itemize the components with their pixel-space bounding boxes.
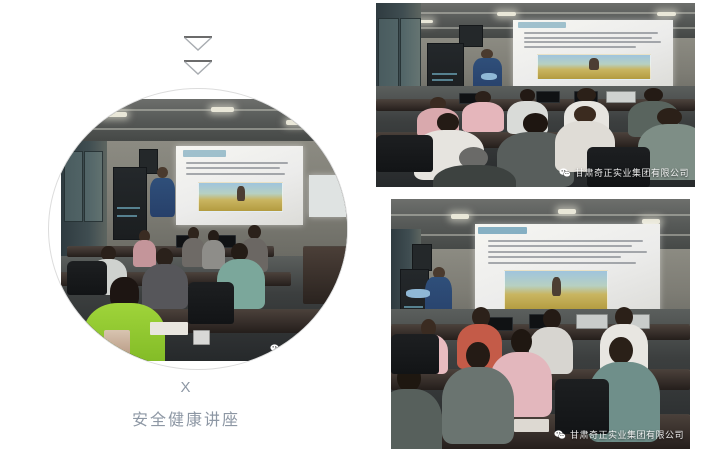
attendee <box>133 240 156 266</box>
rack-indicator <box>432 79 452 81</box>
slide-text-line <box>524 46 636 48</box>
photo-scene <box>376 3 695 187</box>
slide-figure <box>237 186 245 200</box>
slide-figure <box>552 277 561 296</box>
wechat-icon <box>559 167 571 179</box>
attendee-head <box>511 329 532 354</box>
watermark-text: 甘肃奇正实业 <box>286 342 343 355</box>
lecture-photo-top-right[interactable]: 甘肃奇正实业集团有限公司 <box>376 3 695 187</box>
slide-figure <box>589 58 599 70</box>
slide-header <box>478 227 526 234</box>
slide-text-line <box>488 262 636 264</box>
slide-text-line <box>524 32 658 34</box>
watermark: 甘肃奇正实业 <box>270 342 343 355</box>
window-pane <box>400 18 421 90</box>
shirt-graphic <box>104 330 130 356</box>
equipment-rack <box>113 167 147 240</box>
window-pane <box>84 151 103 221</box>
ceiling-line <box>61 128 348 130</box>
chair <box>188 282 234 324</box>
chevron-down-icon <box>183 36 213 51</box>
projection-screen <box>513 20 673 88</box>
slide-text-line <box>186 173 285 175</box>
presenter-head <box>157 167 167 178</box>
slide-image <box>504 270 608 311</box>
window-pane <box>64 151 83 221</box>
presenter-arm <box>406 289 430 298</box>
rack-indicator <box>404 306 423 308</box>
watermark-text: 甘肃奇正实业集团有限公司 <box>570 428 684 441</box>
watermark: 甘肃奇正实业集团有限公司 <box>554 428 684 441</box>
desk-monitor <box>606 91 637 102</box>
side-cabinet <box>303 246 348 305</box>
ceiling-line <box>391 214 690 216</box>
slide-text-line <box>488 256 621 258</box>
ceiling-light <box>642 219 660 224</box>
window-pane <box>378 18 399 90</box>
ceiling-light <box>497 12 516 16</box>
ceiling-light <box>286 120 306 125</box>
slide-text-line <box>524 41 661 43</box>
wechat-icon <box>270 343 282 355</box>
section-divider-chevrons <box>183 36 213 80</box>
photo-scene <box>61 99 348 361</box>
slide-text-line <box>488 240 644 242</box>
desk-monitor <box>536 91 560 102</box>
chair <box>555 379 609 434</box>
slide-image <box>537 54 651 81</box>
watermark: 甘肃奇正实业集团有限公司 <box>559 166 689 179</box>
chair <box>376 135 433 172</box>
attendee-head <box>466 342 490 370</box>
rack-indicator <box>117 207 140 209</box>
ceiling-light <box>101 112 127 117</box>
wall-speaker <box>412 244 432 271</box>
caption-x: X <box>0 379 372 396</box>
slide-text-line <box>186 162 287 164</box>
projection-screen <box>475 224 660 317</box>
slide-header <box>183 150 226 157</box>
ceiling-line <box>376 12 695 14</box>
circular-photo-frame[interactable]: 甘肃奇正实业 <box>48 88 348 370</box>
attendee <box>442 367 514 445</box>
chevron-down-icon <box>183 60 213 75</box>
ceiling-light <box>451 214 469 219</box>
rack-indicator <box>432 73 457 75</box>
wechat-icon <box>554 429 566 441</box>
slide-header <box>518 22 566 27</box>
device-on-desk <box>193 330 209 345</box>
lecture-photo-bottom-right[interactable]: 甘肃奇正实业集团有限公司 <box>391 199 690 449</box>
slide-image <box>198 182 284 212</box>
notebook <box>150 322 187 335</box>
lecture-photo-circle: 甘肃奇正实业 <box>61 99 348 361</box>
desk-monitor <box>576 314 608 329</box>
attendee-head <box>523 113 549 133</box>
slide-text-line <box>488 251 647 253</box>
ceiling-light <box>211 107 234 112</box>
whiteboard <box>309 175 346 217</box>
chair <box>391 334 439 374</box>
caption-title: 安全健康讲座 <box>0 406 372 430</box>
projection-screen <box>176 146 303 225</box>
attendee-head <box>609 337 633 365</box>
chair <box>67 261 107 295</box>
attendee <box>433 165 516 187</box>
presenter-body <box>150 178 175 217</box>
rack-indicator <box>117 215 137 217</box>
watermark-text: 甘肃奇正实业集团有限公司 <box>575 166 689 179</box>
photo-scene <box>391 199 690 449</box>
slide-text-line <box>186 167 280 169</box>
attendee <box>462 102 503 131</box>
presenter-arm <box>481 73 497 80</box>
slide-text-line <box>524 37 652 39</box>
left-column: 甘肃奇正实业 X 安全健康讲座 <box>0 0 372 459</box>
attendee <box>142 264 188 309</box>
article-page: 甘肃奇正实业 X 安全健康讲座 <box>0 0 723 459</box>
notebook <box>514 419 550 432</box>
slide-text-line <box>488 245 633 247</box>
ceiling-light <box>558 209 576 214</box>
attendee <box>391 389 442 449</box>
ceiling-light <box>657 12 676 16</box>
